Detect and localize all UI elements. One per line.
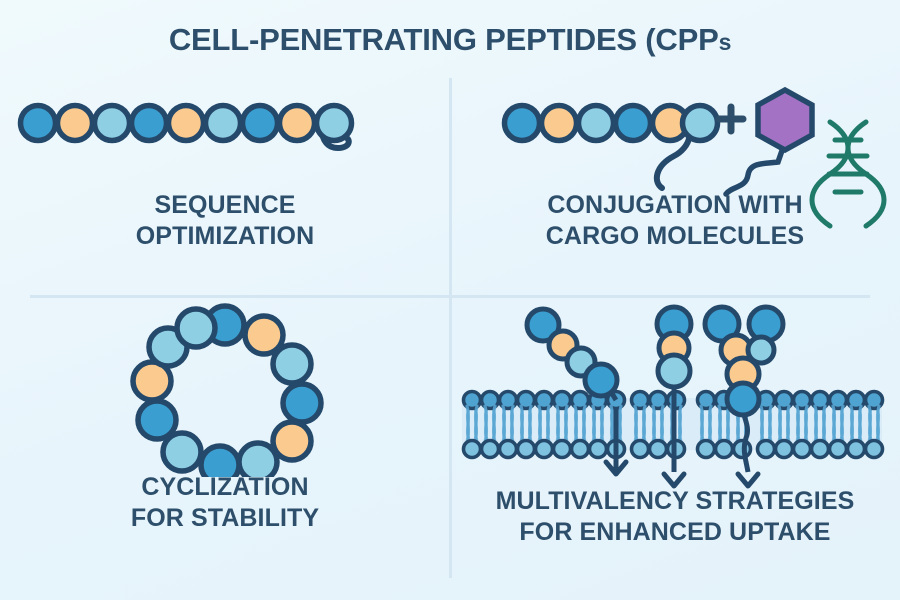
page-title-main: CELL-PENETRATING PEPTIDES (CPP [169, 22, 719, 57]
lipid-head [500, 441, 517, 458]
caption-line: CYCLIZATION [0, 472, 450, 503]
lipid-head [650, 441, 667, 458]
peptide-bead [579, 106, 614, 141]
peptide-bead [58, 106, 93, 141]
peptide-bead [283, 384, 321, 422]
lipid-head [536, 441, 553, 458]
peptide-bead [177, 309, 215, 347]
peptide-bead [169, 106, 204, 141]
caption-line: MULTIVALENCY STRATEGIES [450, 486, 900, 517]
lipid-head [794, 441, 811, 458]
peptide-bead [163, 433, 201, 471]
uptake-arrow [664, 474, 684, 486]
cyclic-peptide-ring-figure [0, 302, 450, 477]
lipid-head [464, 441, 481, 458]
peptide-bead [273, 422, 311, 460]
peptide-bead [317, 106, 352, 141]
peptide-bead [585, 364, 617, 396]
caption-line: SEQUENCE [0, 190, 450, 221]
peptide-bead [658, 355, 690, 387]
lipid-head [698, 441, 715, 458]
peptide-bead [616, 106, 651, 141]
lipid-head [716, 441, 733, 458]
infographic-canvas: CELL-PENETRATING PEPTIDES (CPPs SEQUENCE [0, 0, 900, 600]
lipid-head [758, 441, 775, 458]
quadrant-caption: CYCLIZATION FOR STABILITY [0, 472, 450, 534]
quadrant-cyclization-for-stability: CYCLIZATION FOR STABILITY [0, 302, 450, 562]
lipid-head [632, 441, 649, 458]
peptide-bead [132, 106, 167, 141]
construct-diagonal-chain [527, 309, 617, 400]
caption-line: OPTIMIZATION [0, 221, 450, 252]
caption-line: CARGO MOLECULES [450, 221, 900, 252]
caption-line: FOR STABILITY [0, 503, 450, 534]
peptide-bead [542, 106, 577, 141]
uptake-arrow [738, 474, 758, 486]
peptide-bead [138, 401, 176, 439]
peptide-cargo-conjugation-figure [450, 82, 900, 282]
peptide-bead [243, 106, 278, 141]
peptide-bead [280, 106, 315, 141]
peptide-bead [206, 106, 241, 141]
lipid-head [776, 441, 793, 458]
peptide-bead [95, 106, 130, 141]
quadrant-caption: SEQUENCE OPTIMIZATION [0, 190, 450, 252]
lipid-head [554, 441, 571, 458]
peptide-bead [273, 345, 311, 383]
lipid-head [866, 441, 883, 458]
quadrant-caption: MULTIVALENCY STRATEGIES FOR ENHANCED UPT… [450, 486, 900, 548]
lipid-head [590, 441, 607, 458]
quadrant-caption: CONJUGATION WITH CARGO MOLECULES [450, 190, 900, 252]
quadrant-multivalency-strategies: MULTIVALENCY STRATEGIES FOR ENHANCED UPT… [450, 302, 900, 562]
page-title-suffix: s [719, 29, 732, 55]
peptide-bead [683, 106, 718, 141]
lipid-head [830, 441, 847, 458]
cargo-hexagon-icon [758, 90, 812, 150]
membrane-multivalency-figure [450, 302, 900, 492]
lipid-head [812, 441, 829, 458]
peptide-bead [21, 106, 56, 141]
peptide-bead [727, 383, 759, 415]
caption-line: FOR ENHANCED UPTAKE [450, 517, 900, 548]
linear-peptide-chain-figure [0, 82, 450, 282]
lipid-head [572, 441, 589, 458]
peptide-bead [505, 106, 540, 141]
lipid-head [482, 441, 499, 458]
caption-line: CONJUGATION WITH [450, 190, 900, 221]
page-title: CELL-PENETRATING PEPTIDES (CPPs [0, 22, 900, 58]
lipid-head [848, 441, 865, 458]
lipid-head [518, 441, 535, 458]
plus-sign-icon [719, 107, 743, 131]
